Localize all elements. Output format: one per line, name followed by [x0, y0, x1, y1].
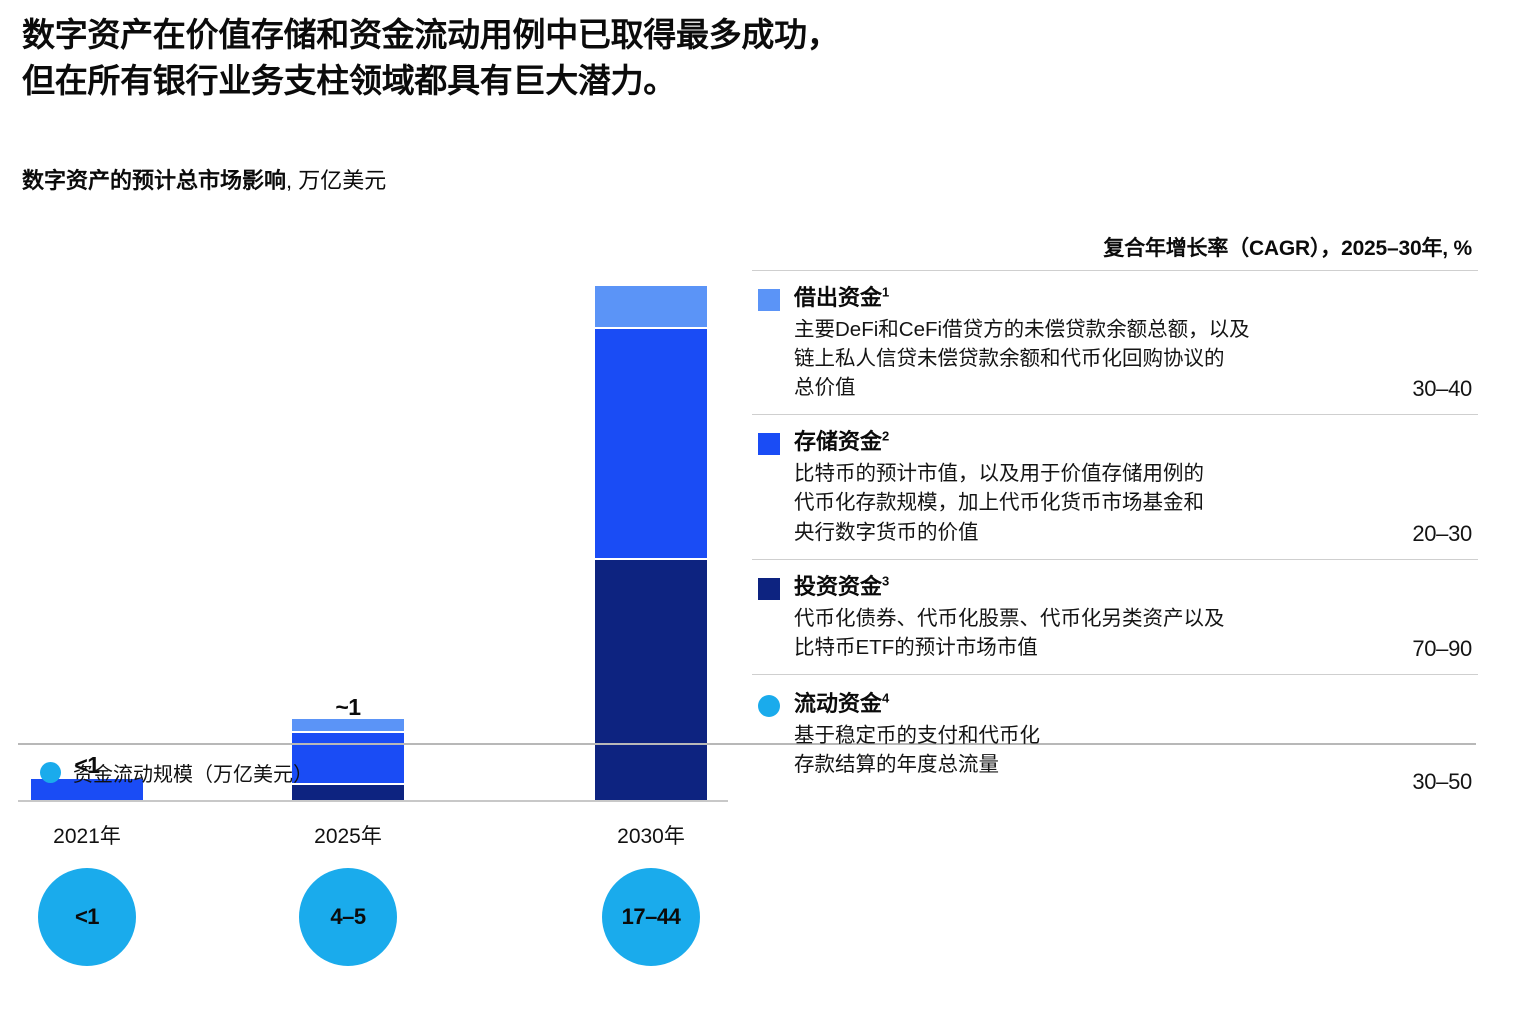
legend-item-cagr-value: 30–50: [1412, 769, 1472, 795]
legend-item-header: 投资资金3: [752, 574, 1478, 600]
flow-legend-dot-icon: [40, 762, 61, 783]
legend-item-header: 流动资金4: [752, 691, 1478, 717]
legend-desc-line: 总价值: [794, 373, 1394, 402]
x-tick-label-2025: 2025年: [268, 820, 428, 850]
legend-swatch-flowing-icon: [758, 695, 780, 717]
page-title: 数字资产在价值存储和资金流动用例中已取得最多成功， 但在所有银行业务支柱领域都具…: [22, 12, 1222, 103]
legend-item-name: 投资资金: [794, 574, 882, 599]
legend-desc-line: 央行数字货币的价值: [794, 518, 1394, 547]
legend-item-description: 基于稳定币的支付和代币化 存款结算的年度总流量: [794, 721, 1394, 779]
legend-desc-line: 主要DeFi和CeFi借贷方的未偿贷款余额总额，以及: [794, 315, 1394, 344]
legend-item-lending[interactable]: 借出资金1 主要DeFi和CeFi借贷方的未偿贷款余额总额，以及 链上私人信贷未…: [752, 271, 1478, 414]
legend-item-description: 代币化债券、代币化股票、代币化另类资产以及 比特币ETF的预计市场市值: [794, 604, 1394, 662]
x-tick-label-2021: 2021年: [7, 820, 167, 850]
legend-desc-line: 比特币的预计市值，以及用于价值存储用例的: [794, 459, 1394, 488]
legend-swatch-investing-icon: [758, 578, 780, 600]
legend-item-cagr-value: 30–40: [1412, 376, 1472, 402]
headline-line-1: 数字资产在价值存储和资金流动用例中已取得最多成功，: [22, 16, 840, 53]
legend-desc-line: 存款结算的年度总流量: [794, 750, 1394, 779]
x-tick-label-2030: 2030年: [571, 820, 731, 850]
bar-total-label-2025: ~1: [292, 694, 404, 721]
legend-item-title: 流动资金4: [794, 691, 889, 716]
legend-desc-line: 链上私人信贷未偿贷款余额和代币化回购协议的: [794, 344, 1394, 373]
legend-item-header: 借出资金1: [752, 285, 1478, 311]
legend-item-footnote: 2: [882, 429, 889, 444]
legend-item-storing[interactable]: 存储资金2 比特币的预计市值，以及用于价值存储用例的 代币化存款规模，加上代币化…: [752, 415, 1478, 558]
cagr-legend-panel: 复合年增长率（CAGR），2025–30年, % 借出资金1 主要DeFi和Ce…: [752, 232, 1478, 791]
legend-item-name: 存储资金: [794, 429, 882, 454]
legend-item-title: 投资资金3: [794, 574, 889, 599]
bar-segment-2030-lending: [595, 286, 707, 327]
legend-item-name: 流动资金: [794, 691, 882, 716]
cagr-header-label: 复合年增长率（CAGR），2025–30年, %: [752, 232, 1478, 270]
legend-desc-line: 比特币ETF的预计市场市值: [794, 633, 1394, 662]
legend-item-header: 存储资金2: [752, 429, 1478, 455]
legend-item-cagr-value: 20–30: [1412, 521, 1472, 547]
flow-size-legend: 资金流动规模（万亿美元）: [40, 758, 313, 787]
legend-swatch-storing-icon: [758, 433, 780, 455]
legend-item-name: 借出资金: [794, 285, 882, 310]
chart-subtitle-bold: 数字资产的预计总市场影响: [22, 168, 286, 193]
legend-swatch-lending-icon: [758, 289, 780, 311]
legend-item-description: 主要DeFi和CeFi借贷方的未偿贷款余额总额，以及 链上私人信贷未偿贷款余额和…: [794, 315, 1394, 402]
bar-segment-2025-lending: [292, 719, 404, 731]
flow-legend-label: 资金流动规模（万亿美元）: [73, 758, 313, 787]
legend-item-title: 存储资金2: [794, 429, 889, 454]
legend-item-cagr-value: 70–90: [1412, 636, 1472, 662]
bar-stack-2030: [595, 286, 707, 800]
bar-segment-2030-investing: [595, 558, 707, 800]
x-axis-line: [18, 800, 728, 802]
legend-item-footnote: 3: [882, 573, 889, 588]
flow-circle-2025: 4–5: [299, 868, 397, 966]
flow-circle-2021: <1: [38, 868, 136, 966]
legend-desc-line: 代币化存款规模，加上代币化货币市场基金和: [794, 488, 1394, 517]
legend-item-footnote: 4: [882, 691, 889, 706]
flow-circle-2030: 17–44: [602, 868, 700, 966]
legend-item-title: 借出资金1: [794, 285, 889, 310]
legend-desc-line: 基于稳定币的支付和代币化: [794, 721, 1394, 750]
headline-line-2: 但在所有银行业务支柱领域都具有巨大潜力。: [22, 58, 1222, 104]
legend-item-description: 比特币的预计市值，以及用于价值存储用例的 代币化存款规模，加上代币化货币市场基金…: [794, 459, 1394, 546]
legend-item-footnote: 1: [882, 285, 889, 300]
chart-subtitle-unit: , 万亿美元: [286, 168, 386, 193]
legend-item-flowing[interactable]: 流动资金4 基于稳定币的支付和代币化 存款结算的年度总流量 30–50: [752, 675, 1478, 791]
legend-item-investing[interactable]: 投资资金3 代币化债券、代币化股票、代币化另类资产以及 比特币ETF的预计市场市…: [752, 560, 1478, 674]
chart-subtitle: 数字资产的预计总市场影响, 万亿美元: [22, 168, 386, 194]
bar-chart: <1 2021年 <1 ~1 2025年 4–5 ~4–6 2030年 17–4…: [0, 230, 745, 1030]
bar-segment-2030-storing: [595, 327, 707, 558]
legend-desc-line: 代币化债券、代币化股票、代币化另类资产以及: [794, 604, 1394, 633]
